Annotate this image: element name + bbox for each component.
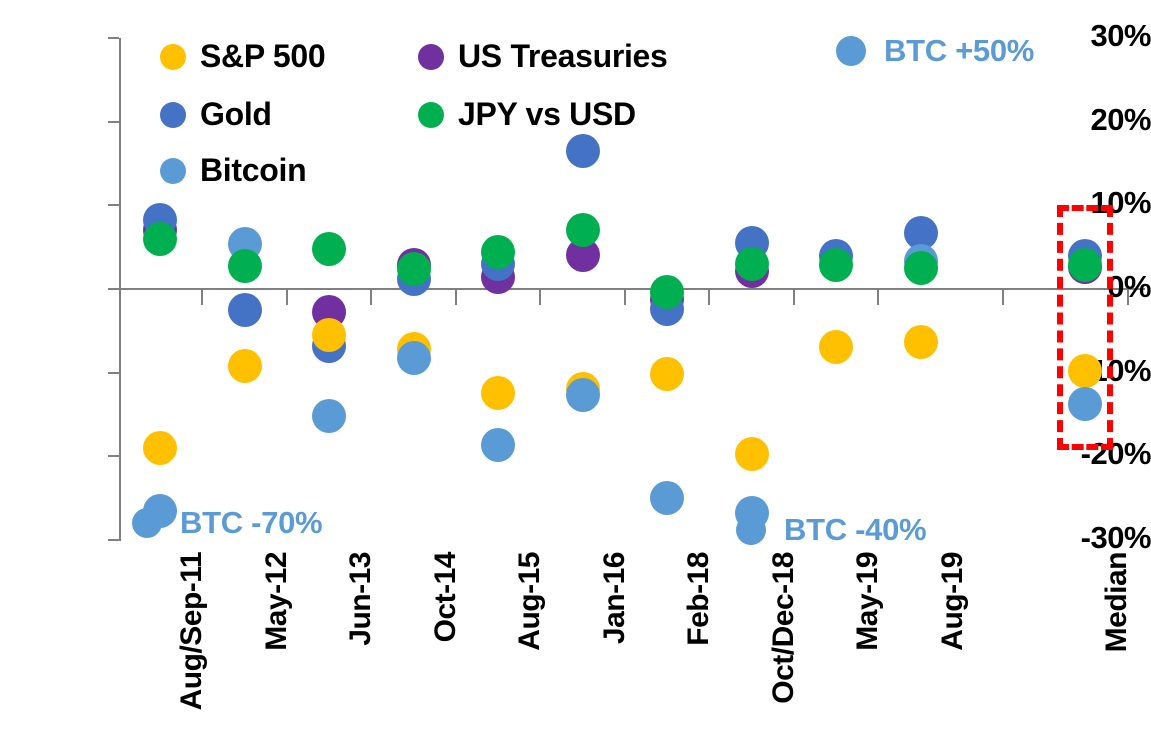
data-point [904,251,938,285]
data-point [735,247,769,281]
x-tick-3 [370,290,372,305]
data-point [819,248,853,282]
legend-label: JPY vs USD [458,96,636,133]
legend-item-gold[interactable]: Gold [160,96,272,133]
x-axis-label: Jan-16 [598,552,632,644]
data-point [143,431,177,465]
x-axis-label: May-12 [260,552,294,651]
annotation-marker-icon [736,515,766,545]
annotation-label: BTC -40% [784,512,926,548]
annotation-marker-icon [836,36,866,66]
y-tick-0 [108,37,119,39]
y-tick-label: -30% [1047,520,1151,556]
x-axis-label: Jun-13 [344,552,378,646]
data-point [397,252,431,286]
annotation-marker-icon [132,508,162,538]
data-point [312,318,346,352]
y-tick-1 [108,121,119,123]
x-tick-7 [708,290,710,305]
legend-item-bitcoin[interactable]: Bitcoin [160,152,306,189]
x-tick-2 [286,290,288,305]
legend-label: S&P 500 [200,38,325,75]
data-point [650,357,684,391]
x-axis-label: Oct/Dec-18 [767,552,801,704]
legend-swatch-icon [160,44,186,70]
data-point [312,232,346,266]
data-point [228,249,262,283]
legend-item-s-p-500[interactable]: S&P 500 [160,38,325,75]
legend-label: US Treasuries [458,38,668,75]
legend-item-us-treasuries[interactable]: US Treasuries [418,38,668,75]
x-tick-9 [877,290,879,305]
x-axis-label: May-19 [851,552,885,651]
y-tick-label: 20% [1047,102,1151,138]
x-tick-8 [793,290,795,305]
y-tick-3 [108,288,119,290]
annotation-btc-70: BTC -70% [132,505,322,541]
x-tick-10 [1002,290,1004,305]
data-point [650,481,684,515]
data-point [819,330,853,364]
zero-baseline [119,288,1145,290]
legend-item-jpy-vs-usd[interactable]: JPY vs USD [418,96,636,133]
x-tick-4 [455,290,457,305]
data-point [228,349,262,383]
data-point [650,275,684,309]
x-axis-label: Aug-19 [936,552,970,651]
legend-label: Gold [200,96,272,133]
data-point [228,293,262,327]
y-tick-label: 30% [1047,18,1151,54]
annotation-label: BTC -70% [180,505,322,541]
legend-label: Bitcoin [200,152,306,189]
data-point [735,437,769,471]
data-point [566,134,600,168]
x-tick-5 [539,290,541,305]
legend-swatch-icon [418,44,444,70]
data-point [481,235,515,269]
annotation-label: BTC +50% [884,33,1034,69]
data-point [481,376,515,410]
x-axis-label: Aug/Sep-11 [175,552,209,710]
x-axis-label: Feb-18 [682,552,716,646]
y-tick-2 [108,204,119,206]
data-point [566,213,600,247]
data-point [1068,248,1102,282]
x-axis-label: Median [1100,552,1134,652]
legend-swatch-icon [160,102,186,128]
x-tick-1 [201,290,203,305]
data-point [312,399,346,433]
x-axis-label: Oct-14 [429,552,463,642]
data-point [1068,354,1102,388]
annotation-btc-40: BTC -40% [736,512,926,548]
data-point [481,428,515,462]
y-tick-4 [108,372,119,374]
data-point [397,341,431,375]
annotation-btc-50: BTC +50% [836,33,1034,69]
data-point [143,222,177,256]
x-tick-6 [624,290,626,305]
x-axis-label: Aug-15 [513,552,547,651]
y-tick-6 [108,539,119,541]
data-point [904,325,938,359]
legend-swatch-icon [160,158,186,184]
legend-swatch-icon [418,102,444,128]
scatter-chart: 30%20%10%0%-10%-20%-30% Aug/Sep-11May-12… [0,0,1151,739]
y-tick-5 [108,455,119,457]
x-tick-end [1127,290,1129,305]
data-point [566,378,600,412]
